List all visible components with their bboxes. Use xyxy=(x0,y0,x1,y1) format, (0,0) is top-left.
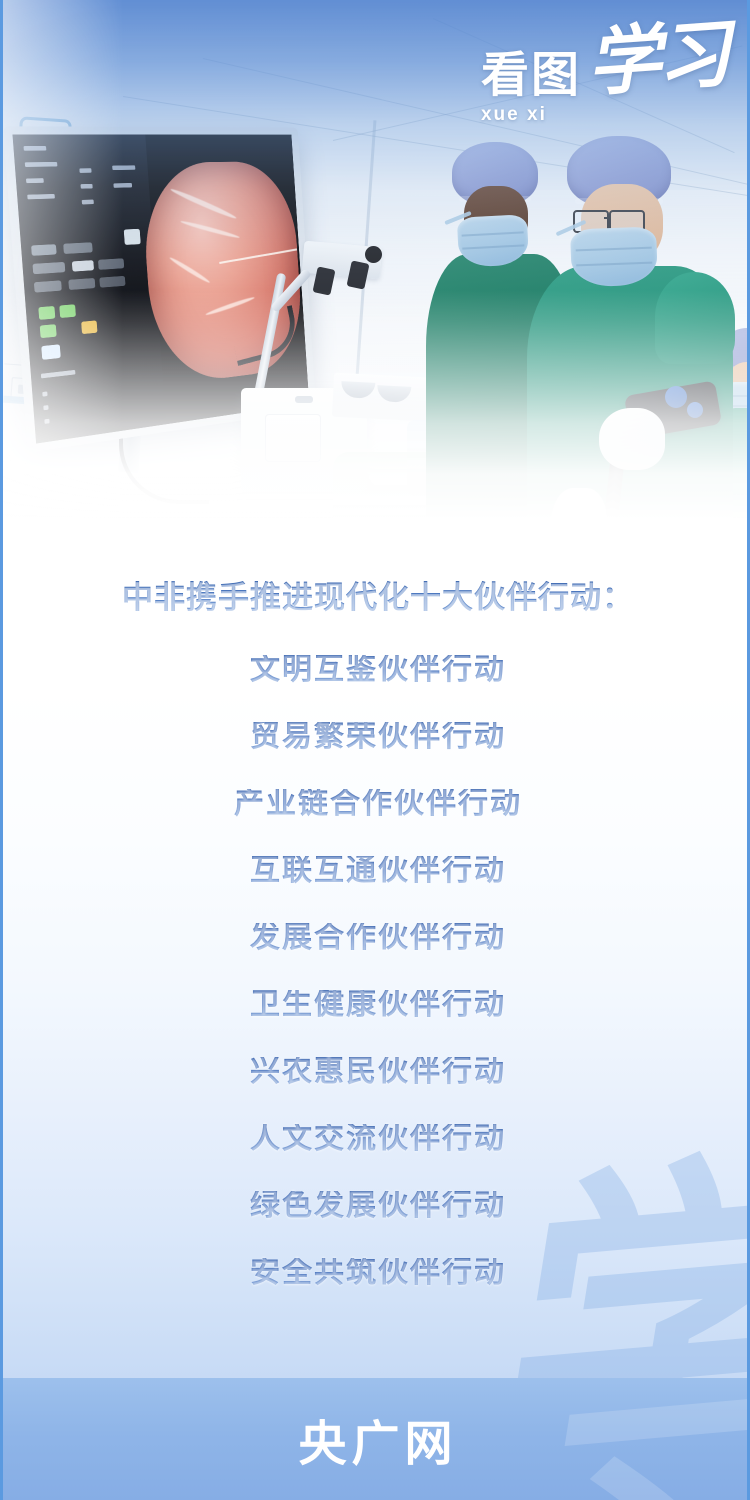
ui-row xyxy=(82,200,94,205)
cart-button xyxy=(295,396,313,403)
ui-row xyxy=(26,178,44,183)
ui-chip xyxy=(34,280,62,292)
monitor-ui-panel xyxy=(12,134,165,443)
poster-root: 看图 学习 xue xi 学 中非携手推进现代化十大伙伴行动： 文明互鉴伙伴行动… xyxy=(0,0,750,1500)
ui-row xyxy=(41,370,76,379)
list-item: 绿色发展伙伴行动 xyxy=(3,1191,750,1221)
mucosa-highlight xyxy=(169,256,211,284)
ui-row xyxy=(44,419,49,424)
ui-chip xyxy=(72,260,94,271)
list-item: 人文交流伙伴行动 xyxy=(3,1124,750,1154)
mucosa-highlight xyxy=(180,219,241,239)
cart-panel xyxy=(265,414,321,462)
ui-chip xyxy=(99,276,125,288)
gloved-hand xyxy=(599,408,665,470)
ui-chip xyxy=(124,229,141,245)
ui-status-chip xyxy=(40,324,57,338)
list-item: 卫生健康伙伴行动 xyxy=(3,990,750,1020)
ui-row xyxy=(25,162,58,167)
page-title: 中非携手推进现代化十大伙伴行动： xyxy=(3,572,750,617)
list-item: 产业链合作伙伴行动 xyxy=(3,789,750,819)
ui-row xyxy=(42,391,47,396)
ui-row xyxy=(112,165,135,170)
ui-row xyxy=(24,146,47,151)
ui-status-chip xyxy=(81,320,97,334)
logo-characters-row: 看图 学习 xyxy=(481,52,727,100)
ui-row xyxy=(43,405,48,410)
ui-row xyxy=(113,183,132,188)
ui-row xyxy=(27,194,55,199)
list-item: 贸易繁荣伙伴行动 xyxy=(3,722,750,752)
logo-kantu-text: 看图 xyxy=(481,52,581,100)
list-item: 互联互通伙伴行动 xyxy=(3,856,750,886)
endoscope-control-knob xyxy=(665,386,687,408)
shoulder xyxy=(655,272,735,364)
logo-xuexi-script: 学习 xyxy=(585,25,729,95)
banner-photo-area: 看图 学习 xue xi xyxy=(3,0,750,520)
ui-chip xyxy=(31,244,57,256)
brand-logo: 看图 学习 xue xi xyxy=(481,52,727,126)
list-item: 兴农惠民伙伴行动 xyxy=(3,1057,750,1087)
endoscope-control-knob xyxy=(687,402,703,418)
partnership-actions-list: 文明互鉴伙伴行动 贸易繁荣伙伴行动 产业链合作伙伴行动 互联互通伙伴行动 发展合… xyxy=(3,655,750,1288)
ui-status-chip xyxy=(59,304,76,318)
ui-row xyxy=(81,184,93,189)
doctor-center xyxy=(559,136,750,520)
ui-chip xyxy=(68,278,95,290)
ui-status-chip xyxy=(41,344,60,360)
endoscope-wire xyxy=(219,248,297,264)
footer-watermark-character: 习 xyxy=(471,1378,750,1500)
ui-status-chip xyxy=(38,306,55,320)
logo-pinyin: xue xi xyxy=(481,104,595,126)
publisher-logo: 央广网 xyxy=(298,1404,457,1474)
ui-chip xyxy=(63,242,93,254)
mucosa-highlight xyxy=(170,187,238,221)
mucosa-highlight xyxy=(204,296,254,317)
list-item: 安全共筑伙伴行动 xyxy=(3,1258,750,1288)
ui-chip xyxy=(32,262,65,274)
camera-ball xyxy=(365,246,382,263)
list-item: 文明互鉴伙伴行动 xyxy=(3,655,750,685)
content-area: 中非携手推进现代化十大伙伴行动： 文明互鉴伙伴行动 贸易繁荣伙伴行动 产业链合作… xyxy=(3,520,750,1325)
ui-row xyxy=(79,168,91,173)
footer-bar: 习 央广网 xyxy=(3,1378,750,1500)
ui-chip xyxy=(98,258,124,270)
list-item: 发展合作伙伴行动 xyxy=(3,923,750,953)
